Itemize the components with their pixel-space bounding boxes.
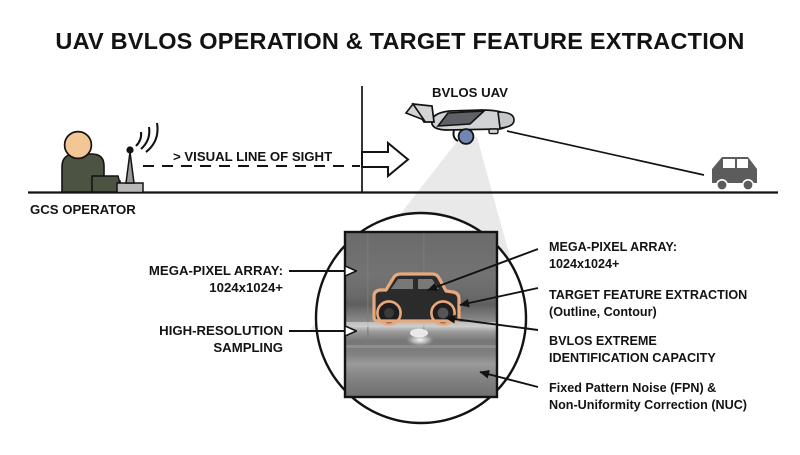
annotation-right-4: Fixed Pattern Noise (FPN) & Non-Uniformi… xyxy=(549,381,747,412)
uav-sensor-mount xyxy=(454,130,459,141)
ir-car-hub-front xyxy=(384,308,394,318)
ir-road-band xyxy=(345,322,497,327)
uav-nose xyxy=(498,112,514,128)
uav-bvlos-diagram: UAV BVLOS OPERATION & TARGET FEATURE EXT… xyxy=(0,0,800,455)
annotation-left-2-line1: HIGH-RESOLUTION xyxy=(159,323,283,338)
antenna-base xyxy=(117,183,143,193)
annotation-left-1: MEGA-PIXEL ARRAY: 1024x1024+ xyxy=(149,263,283,295)
target-vehicle xyxy=(712,157,757,190)
annotation-right-4-line2: Non-Uniformity Correction (NUC) xyxy=(549,398,747,412)
visual-line-of-sight-label: > VISUAL LINE OF SIGHT xyxy=(173,149,332,164)
ir-under-car-glow xyxy=(410,329,428,338)
uav-label: BVLOS UAV xyxy=(432,85,508,100)
ir-image-panel xyxy=(345,232,497,397)
target-vehicle-window-rear xyxy=(737,159,748,168)
annotation-right-2-line1: TARGET FEATURE EXTRACTION xyxy=(549,288,747,302)
radio-wave-1 xyxy=(136,132,141,146)
direction-arrow xyxy=(362,143,408,176)
annotation-right-2-line2: (Outline, Contour) xyxy=(549,305,657,319)
annotation-left-2: HIGH-RESOLUTION SAMPLING xyxy=(159,323,283,355)
annotation-left-1-line2: 1024x1024+ xyxy=(209,280,283,295)
operator-head xyxy=(65,132,92,159)
annotation-right-4-line1: Fixed Pattern Noise (FPN) & xyxy=(549,381,716,395)
gcs-antenna xyxy=(117,123,158,193)
annotation-right-3-line2: IDENTIFICATION CAPACITY xyxy=(549,351,716,365)
gcs-operator-figure xyxy=(62,132,122,192)
antenna-mast xyxy=(126,152,134,183)
target-vehicle-wheel-front xyxy=(717,180,727,190)
annotation-right-3: BVLOS EXTREME IDENTIFICATION CAPACITY xyxy=(549,334,716,365)
annotation-right-1: MEGA-PIXEL ARRAY: 1024x1024+ xyxy=(549,240,677,271)
ir-car-hub-rear xyxy=(438,308,449,319)
diagram-canvas: UAV BVLOS OPERATION & TARGET FEATURE EXT… xyxy=(0,0,800,455)
target-vehicle-window-front xyxy=(723,159,735,168)
gcs-operator-label: GCS OPERATOR xyxy=(30,202,136,217)
annotation-right-3-line1: BVLOS EXTREME xyxy=(549,334,657,348)
annotation-right-1-line2: 1024x1024+ xyxy=(549,257,619,271)
antenna-tip xyxy=(126,146,133,153)
radio-wave-2 xyxy=(141,127,149,149)
annotation-right-1-line1: MEGA-PIXEL ARRAY: xyxy=(549,240,677,254)
bvlos-uav xyxy=(406,104,514,144)
annotation-left-1-line1: MEGA-PIXEL ARRAY: xyxy=(149,263,283,278)
uav-gear xyxy=(489,129,498,134)
page-title: UAV BVLOS OPERATION & TARGET FEATURE EXT… xyxy=(55,28,744,54)
uav-to-target-sightline xyxy=(507,131,704,175)
annotation-right-2: TARGET FEATURE EXTRACTION (Outline, Cont… xyxy=(549,288,747,319)
target-vehicle-wheel-rear xyxy=(743,180,753,190)
annotation-left-2-line2: SAMPLING xyxy=(213,340,283,355)
uav-sensor-turret xyxy=(459,129,474,144)
